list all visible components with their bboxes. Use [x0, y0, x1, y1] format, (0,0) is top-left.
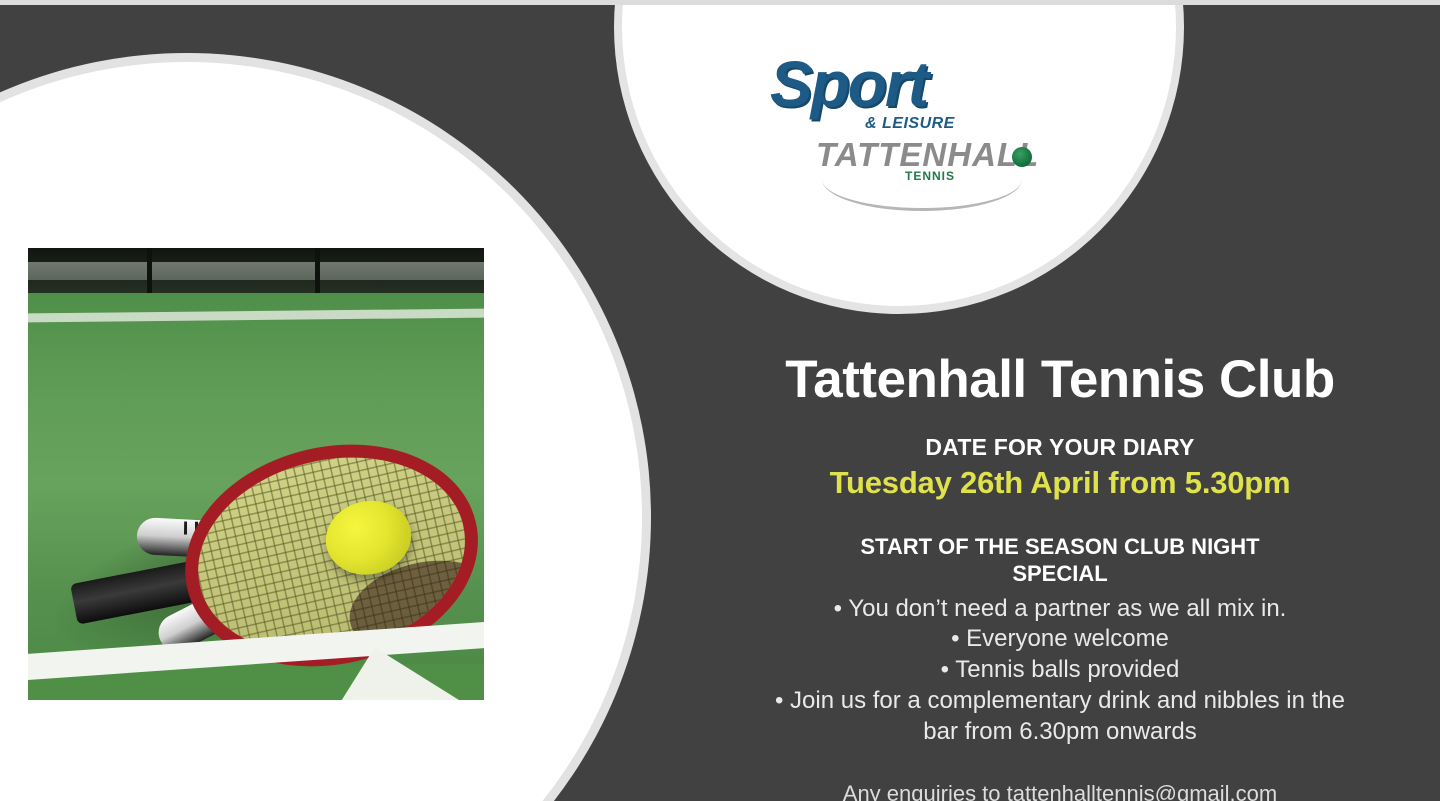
logo-word-leisure: & LEISURE [865, 115, 955, 133]
top-edge-strip [0, 0, 1440, 5]
page-title: Tattenhall Tennis Club [720, 352, 1400, 408]
list-item: • Tennis balls provided [720, 655, 1400, 686]
fence-post [147, 248, 152, 293]
list-item: bar from 6.30pm onwards [720, 717, 1400, 748]
fence-post [315, 248, 320, 293]
logo-word-tennis: TENNIS [905, 169, 955, 183]
list-item: • Everyone welcome [720, 624, 1400, 655]
poster-content: Tattenhall Tennis Club DATE FOR YOUR DIA… [720, 352, 1400, 801]
list-item: • Join us for a complementary drink and … [720, 686, 1400, 717]
event-date: Tuesday 26th April from 5.30pm [720, 465, 1400, 501]
poster-root: Sport & LEISURE TATTENHALL TENNIS Tatten… [0, 0, 1440, 801]
tennis-photo [28, 248, 484, 700]
contact-note: Any enquiries to tattenhalltennis@gmail.… [720, 781, 1400, 801]
club-logo: Sport & LEISURE TATTENHALL TENNIS [770, 52, 1070, 192]
section-heading: START OF THE SEASON CLUB NIGHT SPECIAL [720, 533, 1400, 588]
diary-label: DATE FOR YOUR DIARY [720, 434, 1400, 461]
section-heading-line2: SPECIAL [720, 560, 1400, 588]
list-item: • You don’t need a partner as we all mix… [720, 594, 1400, 625]
bullet-list: • You don’t need a partner as we all mix… [720, 594, 1400, 748]
logo-green-ball-icon [1012, 147, 1032, 167]
logo-word-sport: Sport [770, 52, 927, 116]
section-heading-line1: START OF THE SEASON CLUB NIGHT [720, 533, 1400, 561]
fence-rail [28, 262, 484, 280]
